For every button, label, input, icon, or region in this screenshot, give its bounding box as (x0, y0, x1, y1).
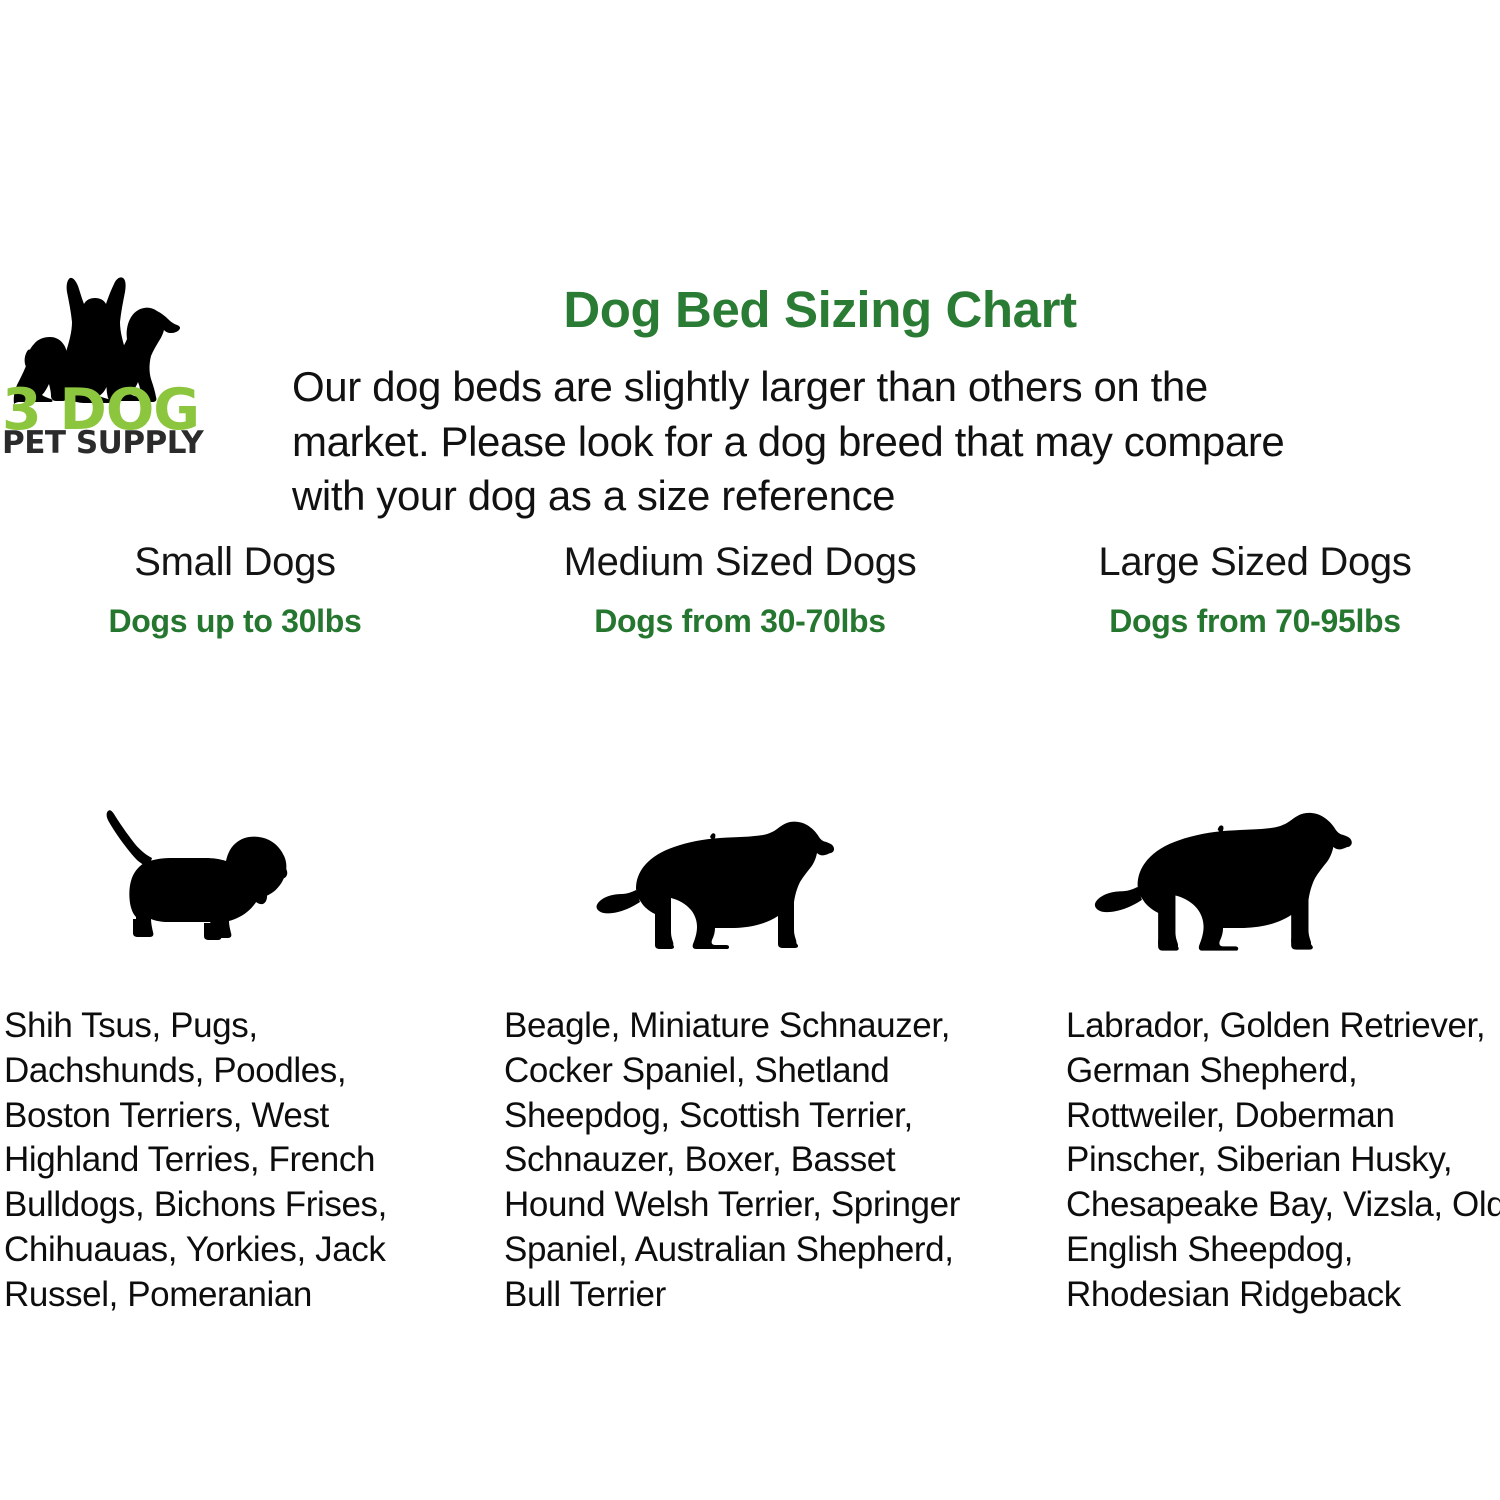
brand-logo: 3 DOG PET SUPPLY (0, 246, 190, 458)
breed-list-medium: Beagle, Miniature Schnauzer, Cocker Span… (504, 1004, 984, 1318)
column-header-medium: Medium Sized Dogs Dogs from 30-70lbs (480, 540, 1000, 639)
retriever-silhouette-icon-large (1090, 798, 1355, 966)
sizing-chart-canvas: 3 DOG PET SUPPLY Dog Bed Sizing Chart Ou… (0, 0, 1500, 1500)
column-header-small: Small Dogs Dogs up to 30lbs (0, 540, 470, 639)
intro-paragraph: Our dog beds are slightly larger than ot… (292, 360, 1352, 524)
breed-list-small: Shih Tsus, Pugs, Dachshunds, Poodles, Bo… (4, 1004, 446, 1318)
column-header-large: Large Sized Dogs Dogs from 70-95lbs (1010, 540, 1500, 639)
column-heading-small: Small Dogs (0, 540, 470, 584)
three-dogs-icon (0, 246, 190, 458)
column-weight-large: Dogs from 70-95lbs (1010, 604, 1500, 639)
page-title: Dog Bed Sizing Chart (280, 282, 1360, 337)
basset-hound-silhouette-icon (100, 805, 295, 955)
column-weight-medium: Dogs from 30-70lbs (480, 604, 1000, 639)
breed-list-large: Labrador, Golden Retriever, German Sheph… (1066, 1004, 1500, 1318)
column-heading-large: Large Sized Dogs (1010, 540, 1500, 584)
column-weight-small: Dogs up to 30lbs (0, 604, 470, 639)
retriever-silhouette-icon-medium (592, 808, 837, 963)
column-heading-medium: Medium Sized Dogs (480, 540, 1000, 584)
